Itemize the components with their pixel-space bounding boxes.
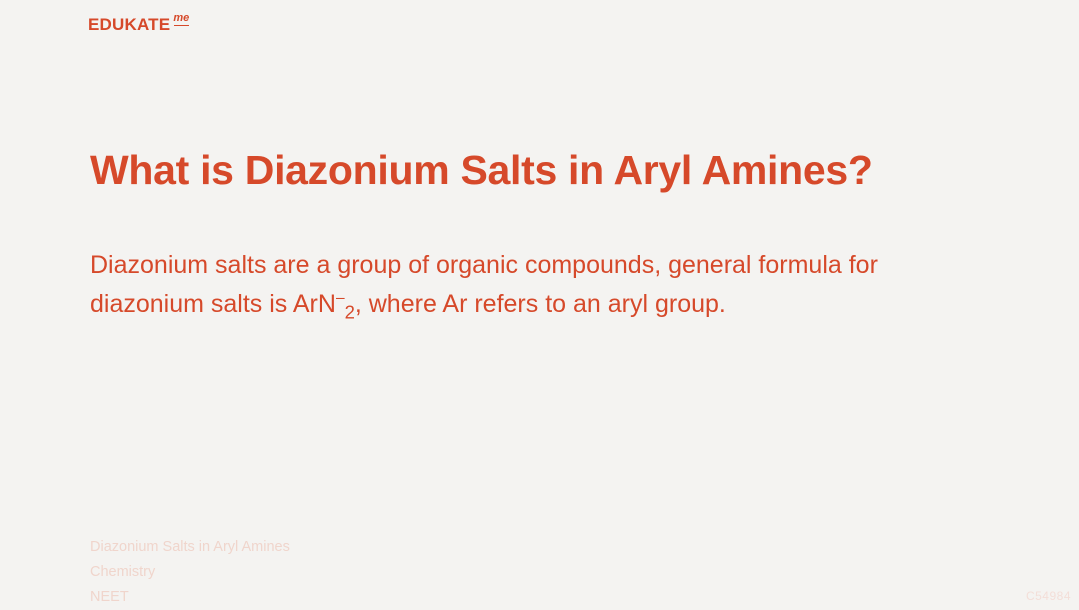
watermark-code: C54984 (1026, 589, 1071, 603)
brand-logo-superscript: me (173, 13, 189, 26)
footer-exam: NEET (90, 585, 290, 610)
slide-body-text: Diazonium salts are a group of organic c… (90, 246, 990, 324)
formula-count-subscript: 2 (345, 301, 355, 322)
slide-title: What is Diazonium Salts in Aryl Amines? (90, 148, 990, 194)
slide-canvas: EDUKATE me What is Diazonium Salts in Ar… (0, 0, 1079, 607)
brand-logo-name: EDUKATE (88, 16, 170, 33)
footer-subject: Chemistry (90, 560, 290, 585)
footer-metadata: Diazonium Salts in Aryl Amines Chemistry… (90, 535, 290, 610)
brand-logo[interactable]: EDUKATE me (88, 16, 189, 33)
formula-charge-superscript: – (336, 290, 345, 307)
footer-topic: Diazonium Salts in Aryl Amines (90, 535, 290, 560)
body-text-segment-2: , where Ar refers to an aryl group. (355, 290, 726, 318)
